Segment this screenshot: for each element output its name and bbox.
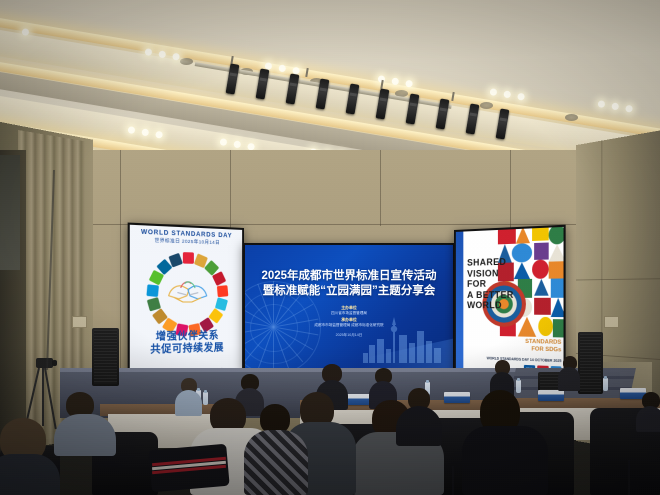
conference-hall-photo: WORLD STANDARDS DAY 世界标准日 2025年10月14日 增强… (0, 0, 660, 495)
sdg-tile-14 (146, 284, 159, 297)
mosaic-shape (534, 242, 549, 259)
mosaic-shape (518, 317, 536, 337)
video-camera (36, 358, 53, 368)
mosaic-shape (498, 227, 516, 244)
ceiling-spotlight-group (21, 28, 29, 36)
mosaic-shape (549, 225, 566, 245)
mosaic-shape (512, 243, 532, 262)
spotlight (625, 105, 633, 113)
spotlight (155, 131, 163, 139)
wsd-slogan: 增强伙伴关系 共促可持续发展 (128, 330, 244, 358)
name-placard (538, 390, 564, 401)
event-organizers: 主办单位 四川省市场监督管理局 承办单位 成都市市场监督管理局 成都市标准化研究… (243, 305, 455, 329)
event-title-line-2: 暨标准赋能“立园满园”主题分享会 (263, 285, 436, 297)
mosaic-shape (538, 317, 553, 336)
mosaic-shape (532, 225, 549, 241)
speaker-cabinet-left (92, 328, 119, 386)
sdg-tile-1 (182, 252, 193, 264)
organizer-label-2: 承办单位 (341, 317, 357, 322)
led-panel-right: SHARED VISION FOR A BETTER WORLD STANDAR… (454, 225, 566, 378)
spotlight (172, 53, 180, 61)
spotlight (503, 90, 511, 98)
mosaic-shape (549, 244, 566, 262)
wall-control-plate[interactable] (604, 316, 619, 328)
mosaic-shape (514, 262, 530, 279)
speaker-cabinet-right (578, 332, 603, 394)
sdg-tile-5 (216, 285, 227, 297)
headline-line-3: FOR (467, 279, 486, 289)
event-title-line-1: 2025年成都市世界标准日宣传活动 (261, 270, 436, 282)
mosaic-shape (551, 298, 566, 317)
spotlight (144, 48, 152, 56)
spotlight (405, 80, 413, 88)
spotlight (158, 50, 166, 58)
spotlight (141, 128, 149, 136)
organizer-value-1: 四川省市场监督管理局 (331, 311, 367, 315)
spotlight (278, 64, 286, 72)
footer-title-2: FOR SDGs (531, 346, 561, 353)
event-title: 2025年成都市世界标准日宣传活动 暨标准赋能“立园满园”主题分享会 (255, 269, 443, 299)
mosaic-shape (532, 260, 549, 279)
headline-line-4: A BETTER (467, 289, 514, 299)
left-window-glass (0, 155, 20, 270)
slogan-line-2: 共促可持续发展 (150, 343, 224, 357)
spotlight (489, 88, 497, 96)
organizer-value-2: 成都市市场监督管理局 成都市标准化研究院 (314, 323, 383, 327)
event-date: 2025年10月14日 (243, 333, 455, 338)
name-placard (444, 392, 470, 403)
wall-control-plate[interactable] (72, 316, 87, 328)
mosaic-shape (551, 278, 566, 297)
spotlight (391, 77, 399, 85)
water-bottle (516, 380, 521, 393)
spotlight (219, 138, 227, 146)
led-panel-left: WORLD STANDARDS DAY 世界标准日 2025年10月14日 增强… (128, 222, 244, 381)
water-bottle (203, 392, 208, 405)
spotlight (517, 93, 525, 101)
spotlight (21, 28, 29, 36)
standards-footer-title: STANDARDS FOR SDGs (525, 339, 561, 354)
mosaic-shape (549, 261, 566, 278)
tripod-leg (42, 368, 44, 426)
sdg-wheel-graphic (144, 248, 230, 340)
spotlight (611, 102, 619, 110)
mosaic-shape (516, 226, 530, 243)
spotlight (597, 100, 605, 108)
organizer-label-1: 主办单位 (341, 305, 357, 310)
headline-line-1: SHARED (467, 256, 506, 267)
spotlight (127, 126, 135, 134)
spotlight (233, 140, 241, 148)
mosaic-shape (553, 319, 566, 337)
handshake-illustration (165, 275, 211, 313)
headline-line-2: VISION (467, 268, 499, 279)
sdg-tile-13 (146, 297, 160, 311)
shared-vision-headline: SHARED VISION FOR A BETTER WORLD (467, 256, 514, 311)
slogan-line-1: 增强伙伴关系 (156, 330, 219, 343)
mosaic-shape (534, 298, 551, 315)
headline-line-5: WORLD (467, 300, 502, 310)
blue-side-stripe (454, 230, 463, 373)
led-panel-center: 2025年成都市世界标准日宣传活动 暨标准赋能“立园满园”主题分享会 主办单位 … (243, 243, 455, 371)
mosaic-shape (534, 279, 549, 296)
water-bottle (603, 378, 608, 391)
